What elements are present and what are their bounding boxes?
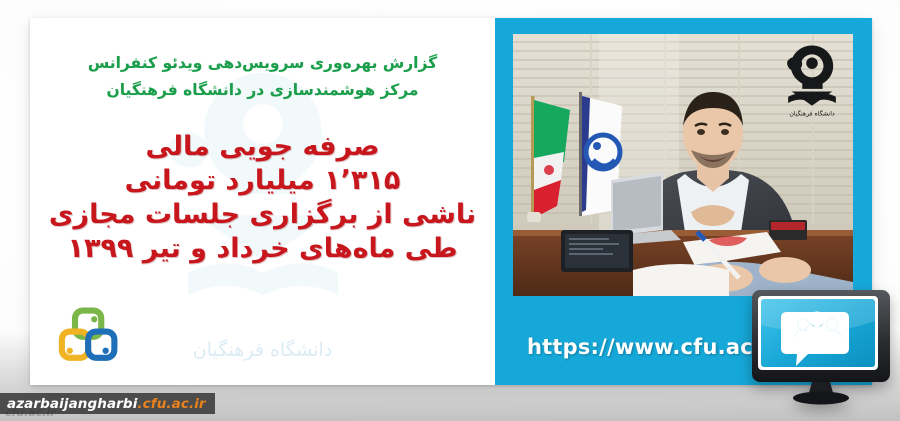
three-squares-logo-icon	[58, 307, 120, 363]
svg-text:دانشگاه فرهنگیان: دانشگاه فرهنگیان	[789, 109, 835, 117]
heading-line-2: مرکز هوشمندسازی در دانشگاه فرهنگیان	[30, 77, 495, 104]
headline-line-4: طی ماه‌های خرداد و تیر ۱۳۹۹	[30, 232, 495, 266]
video-conference-monitor-icon	[746, 288, 896, 408]
headline-line-1: صرفه جویی مالی	[30, 130, 495, 164]
headline-line-3: ناشی از برگزاری جلسات مجازی	[30, 198, 495, 232]
site-url-suffix: .cfu.ac.ir	[137, 396, 205, 412]
site-url-prefix: azarbaijangharbi	[7, 396, 137, 412]
website-url[interactable]: https://www.cfu.ac.ir	[527, 335, 779, 359]
heading-line-1: گزارش بهره‌وری سرویس‌دهی ویدئو کنفرانس	[30, 50, 495, 77]
farhangian-university-logo-icon: دانشگاه فرهنگیان	[781, 42, 843, 118]
site-url-ribbon[interactable]: azarbaijangharbi.cfu.ac.ir	[0, 393, 215, 414]
headline-block: صرفه جویی مالی ۱٬۳۱۵ میلیارد تومانی ناشی…	[30, 130, 495, 266]
report-heading: گزارش بهره‌وری سرویس‌دهی ویدئو کنفرانس م…	[30, 50, 495, 104]
headline-line-2: ۱٬۳۱۵ میلیارد تومانی	[30, 164, 495, 198]
meeting-photo: دانشگاه فرهنگیان	[513, 34, 853, 296]
left-text-panel: دانشگاه فرهنگیان گزارش بهره‌وری سرویس‌ده…	[30, 18, 495, 385]
banner-image: دانشگاه فرهنگیان گزارش بهره‌وری سرویس‌ده…	[0, 0, 900, 421]
watermark-label: دانشگاه فرهنگیان	[193, 339, 333, 361]
